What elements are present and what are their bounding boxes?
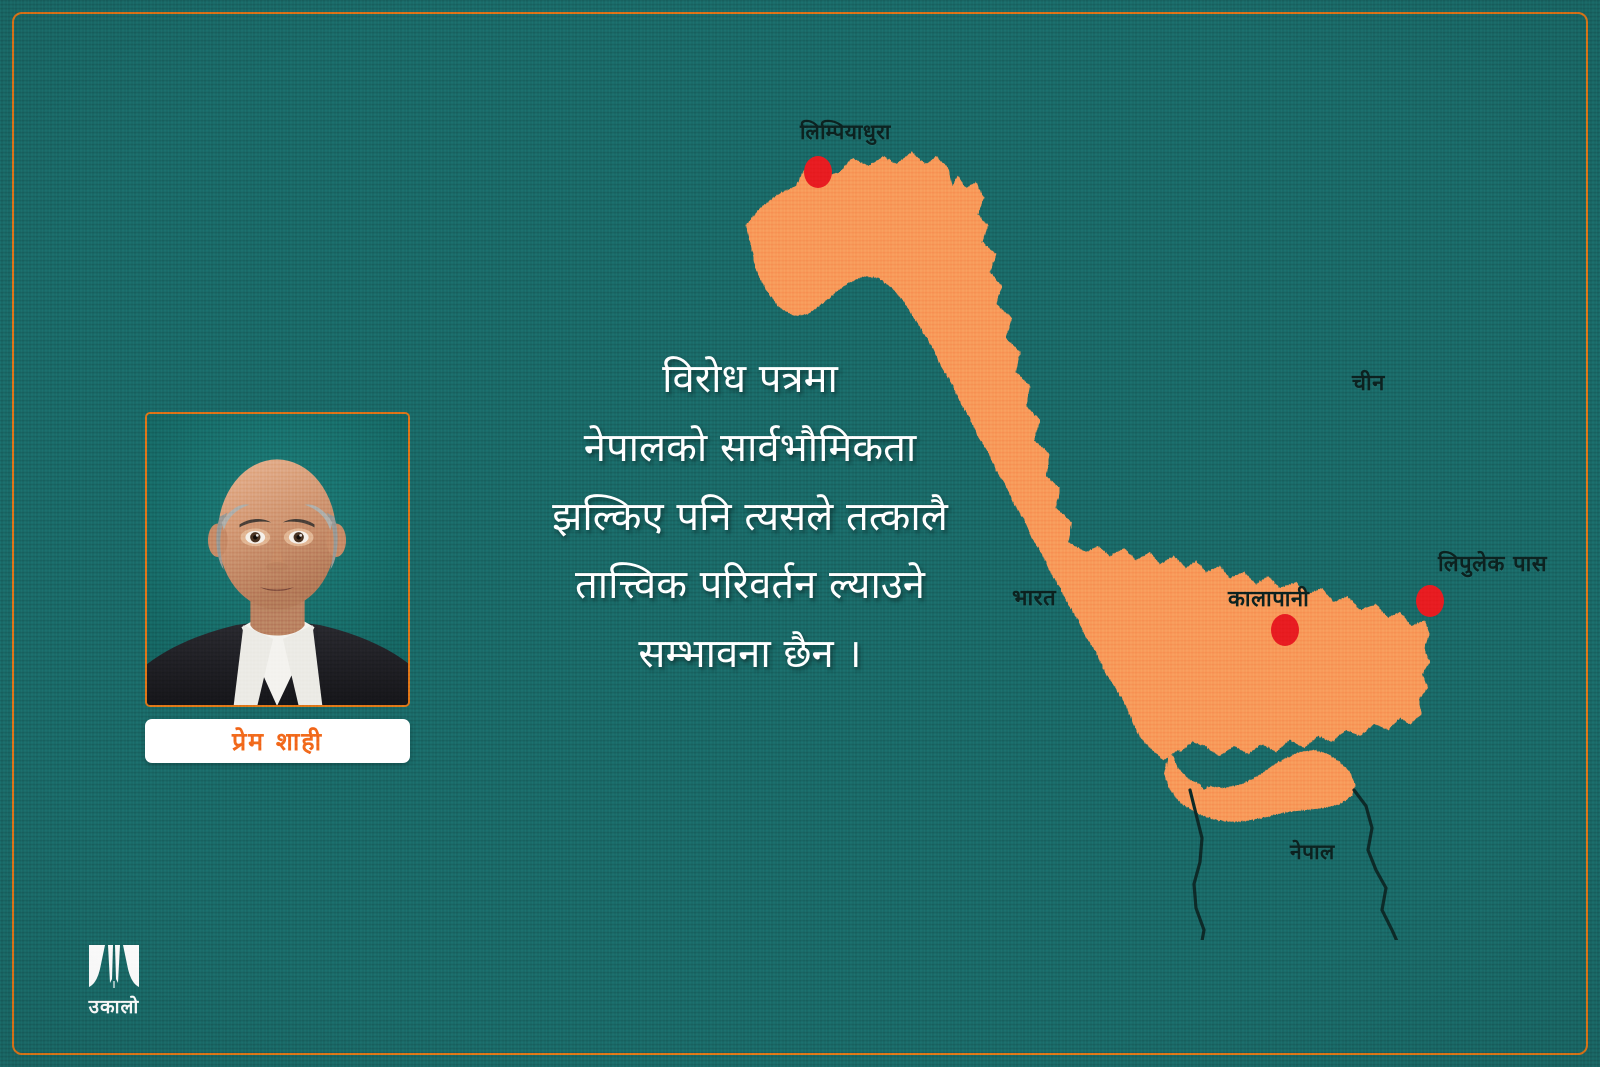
quote-line-5: सम्भावना छैन । bbox=[440, 620, 1060, 689]
map-label-china: चीन bbox=[1352, 367, 1385, 397]
brand-wordmark: उकालो bbox=[66, 993, 162, 1019]
map-label-nepal: नेपाल bbox=[1290, 838, 1335, 866]
speaker-block: प्रेम शाही bbox=[145, 412, 410, 763]
quote-line-2: नेपालको सार्वभौमिकता bbox=[440, 414, 1060, 483]
speaker-name-plate: प्रेम शाही bbox=[145, 719, 410, 763]
speaker-name: प्रेम शाही bbox=[232, 724, 323, 758]
brand-logo[interactable]: उकालो bbox=[66, 939, 162, 1019]
map-label-limpiyadhura: लिम्पियाधुरा bbox=[800, 118, 891, 146]
avatar bbox=[145, 412, 410, 707]
quote-line-1: विरोध पत्रमा bbox=[440, 345, 1060, 414]
quote-text: विरोध पत्रमा नेपालको सार्वभौमिकता झल्किए… bbox=[440, 345, 1060, 689]
quote-line-3: झल्किए पनि त्यसले तत्कालै bbox=[440, 483, 1060, 552]
quote-card: लिम्पियाधुरा चीन भारत कालापानी लिपुलेक प… bbox=[0, 0, 1600, 1067]
map-label-kalapani: कालापानी bbox=[1228, 583, 1309, 613]
map-label-lipulekh: लिपुलेक पास bbox=[1438, 548, 1547, 578]
uphill-road-icon bbox=[85, 939, 143, 989]
quote-line-4: तात्त्विक परिवर्तन ल्याउने bbox=[440, 551, 1060, 620]
